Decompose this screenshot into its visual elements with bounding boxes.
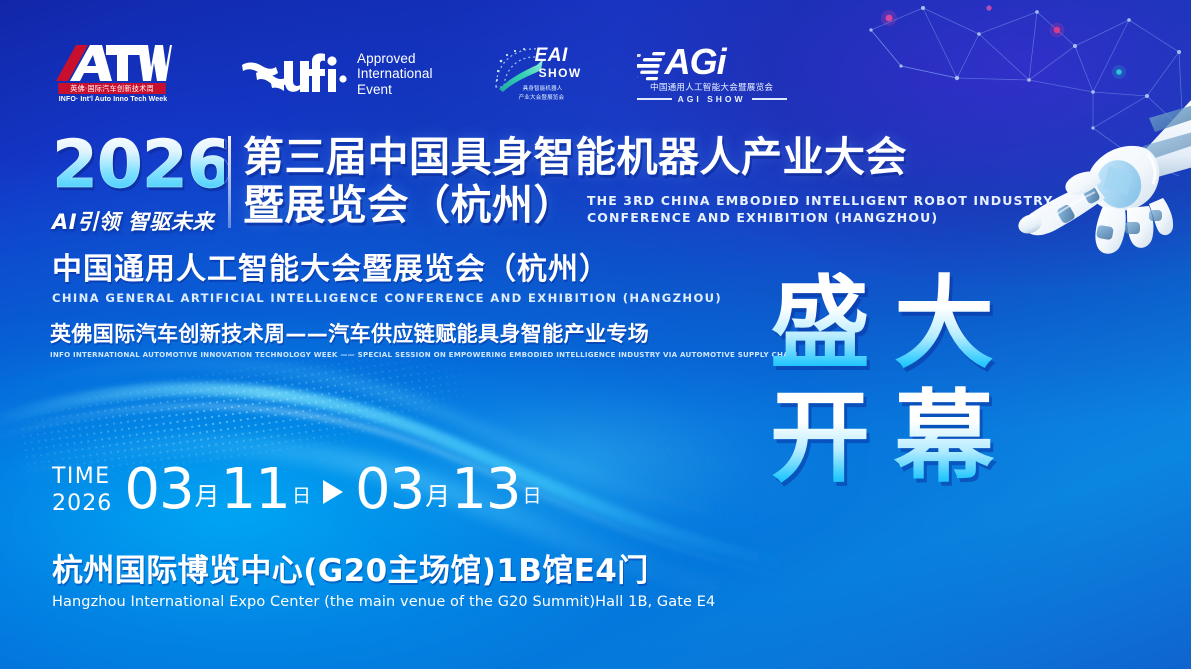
time-label-line-1: TIME: [52, 463, 112, 490]
end-day: 13: [451, 462, 520, 518]
agi-chinese-line: 中国通用人工智能大会暨展览会: [637, 81, 787, 93]
start-day-unit: 日: [292, 481, 311, 508]
secondary-title: 中国通用人工智能大会暨展览会（杭州） CHINA GENERAL ARTIFIC…: [52, 252, 772, 305]
eai-show-logo[interactable]: EAI SHOW 具身智能机器人 产业大会暨展览会: [493, 39, 589, 109]
time-label-line-2: 2026: [52, 490, 112, 517]
tertiary-title-cn: 英佛国际汽车创新技术周——汽车供应链赋能具身智能产业专场: [50, 321, 750, 347]
atw-chinese-strip: 英佛·国际汽车创新技术周: [58, 83, 166, 94]
main-title-en-line-2: CONFERENCE AND EXHIBITION (HANGZHOU): [587, 209, 1053, 226]
eai-chinese-line-1: 具身智能机器人: [523, 84, 563, 92]
main-title-line-2: 暨展览会（杭州）: [243, 181, 575, 229]
start-month-unit: 月: [195, 477, 220, 513]
agi-wordmark: AGi: [665, 44, 726, 80]
start-month: 03: [124, 462, 193, 518]
ufi-line-3: Event: [357, 82, 433, 98]
atw-wordmark-icon: [54, 43, 172, 83]
year-block: 2026 AI引领 智驱未来: [52, 132, 224, 236]
main-title-line-2-row: 暨展览会（杭州） THE 3RD CHINA EMBODIED INTELLIG…: [243, 181, 1043, 229]
end-month-unit: 月: [425, 477, 450, 513]
main-title-english: THE 3RD CHINA EMBODIED INTELLIGENT ROBOT…: [587, 192, 1053, 229]
end-month: 03: [355, 462, 424, 518]
main-title: 第三届中国具身智能机器人产业大会 暨展览会（杭州） THE 3RD CHINA …: [243, 133, 1043, 229]
sponsor-logo-bar: 英佛·国际汽车创新技术周 INFO· Int'l Auto Inno Tech …: [54, 38, 787, 110]
end-date: 03 月 13 日: [355, 462, 542, 518]
conference-banner: 英佛·国际汽车创新技术周 INFO· Int'l Auto Inno Tech …: [0, 0, 1191, 669]
agi-show-row: AGI SHOW: [637, 94, 787, 104]
eai-show-label: SHOW: [539, 66, 582, 80]
time-label: TIME 2026: [52, 463, 112, 517]
eai-wordmark: EAI: [535, 45, 568, 67]
year-number: 2026: [52, 132, 224, 198]
main-title-line-1: 第三届中国具身智能机器人产业大会: [243, 133, 1043, 181]
tertiary-title: 英佛国际汽车创新技术周——汽车供应链赋能具身智能产业专场 INFO INTERN…: [50, 321, 750, 359]
agi-rule-left: [637, 98, 672, 100]
hero-char-3: 开: [770, 386, 870, 490]
venue-cn: 杭州国际博览中心(G20主场馆)1B馆E4门: [52, 552, 715, 590]
hero-char-1: 盛: [770, 272, 870, 376]
ufi-logo[interactable]: Approved International Event: [240, 51, 433, 98]
ufi-line-2: International: [357, 66, 433, 82]
hero-row-2: 开 幕: [770, 386, 1110, 490]
secondary-title-en: CHINA GENERAL ARTIFICIAL INTELLIGENCE CO…: [52, 291, 772, 305]
venue-block: 杭州国际博览中心(G20主场馆)1B馆E4门 Hangzhou Internat…: [52, 552, 715, 610]
atw-logo[interactable]: 英佛·国际汽车创新技术周 INFO· Int'l Auto Inno Tech …: [54, 41, 172, 107]
tertiary-title-en: INFO INTERNATIONAL AUTOMOTIVE INNOVATION…: [50, 350, 750, 359]
hero-char-2: 大: [894, 272, 994, 376]
main-title-en-line-1: THE 3RD CHINA EMBODIED INTELLIGENT ROBOT…: [587, 192, 1053, 209]
event-time-block: TIME 2026 03 月 11 日 03 月 13 日: [52, 462, 542, 518]
year-slogan: AI引领 智驱未来: [52, 206, 224, 236]
agi-show-logo[interactable]: AGi 中国通用人工智能大会暨展览会 AGI SHOW: [637, 38, 787, 110]
venue-en: Hangzhou International Expo Center (the …: [52, 594, 715, 610]
secondary-title-cn: 中国通用人工智能大会暨展览会（杭州）: [52, 252, 772, 288]
ufi-line-1: Approved: [357, 51, 433, 67]
date-range-arrow-icon: [323, 480, 343, 504]
atw-english-caption: INFO· Int'l Auto Inno Tech Week: [54, 96, 172, 103]
hero-headline: 盛 大 开 幕: [770, 272, 1110, 537]
ufi-wordmark-icon: [240, 53, 348, 95]
start-date: 03 月 11 日: [124, 462, 311, 518]
time-date-range: 03 月 11 日 03 月 13 日: [124, 462, 541, 518]
hero-char-4: 幕: [894, 386, 994, 490]
end-day-unit: 日: [523, 481, 542, 508]
eai-chinese-line-2: 产业大会暨展览会: [519, 93, 565, 101]
ufi-approved-text: Approved International Event: [357, 51, 433, 98]
agi-show-label: AGI SHOW: [678, 94, 746, 104]
start-day: 11: [221, 462, 290, 518]
agi-rule-right: [752, 98, 787, 100]
title-divider: [228, 136, 231, 228]
robot-hand-icon: [997, 88, 1191, 293]
